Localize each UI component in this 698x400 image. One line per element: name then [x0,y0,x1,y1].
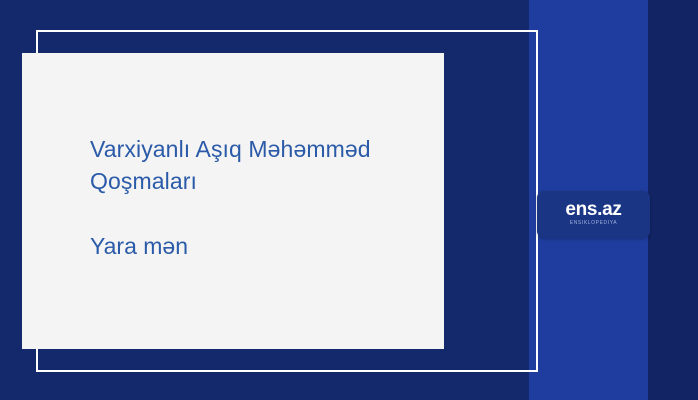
ens-az-badge[interactable]: ens.az ENSIKLOPEDIYA [537,191,650,238]
background-band-right-dark [648,0,698,400]
page-title: Varxiyanlı Aşıq Məhəmməd Qoşmaları [90,133,430,197]
ens-az-badge-label: ens.az [537,199,650,221]
ens-az-badge-tagline: ENSIKLOPEDIYA [537,220,650,226]
content-card-inner: Varxiyanlı Aşıq Məhəmməd Qoşmaları Yara … [90,133,430,261]
page-subtitle: Yara mən [90,197,430,261]
content-card: Varxiyanlı Aşıq Məhəmməd Qoşmaları Yara … [22,53,444,349]
poster-canvas: Varxiyanlı Aşıq Məhəmməd Qoşmaları Yara … [0,0,698,400]
